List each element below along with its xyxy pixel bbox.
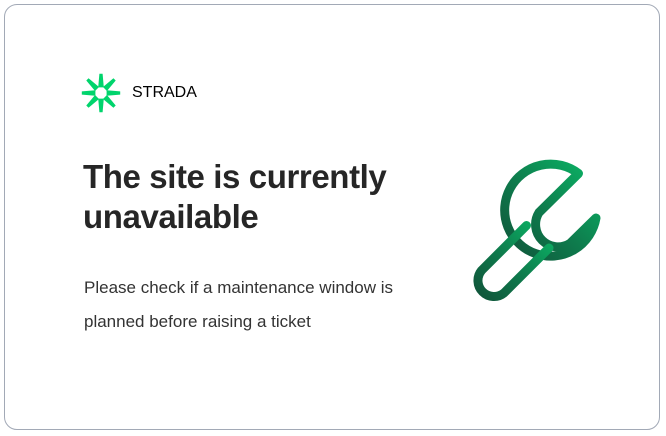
maintenance-notice-card: STRADA The site is currently unavailable…: [4, 4, 660, 430]
brand-wordmark: STRADA: [132, 84, 197, 102]
page-title: The site is currently unavailable: [83, 157, 413, 238]
wrench-icon: [457, 157, 617, 317]
brand-lockup: STRADA: [81, 73, 197, 113]
page-description: Please check if a maintenance window is …: [84, 271, 394, 339]
strada-asterisk-icon: [81, 73, 121, 113]
